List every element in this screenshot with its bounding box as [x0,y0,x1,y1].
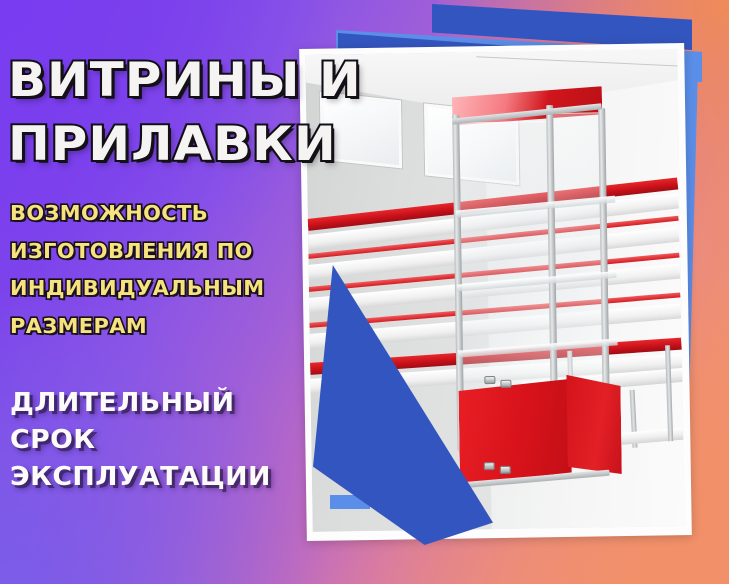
feature-white-line-3: ЭКСПЛУАТАЦИИ [10,464,271,490]
feature-block-yellow: ВОЗМОЖНОСТЬ ИЗГОТОВЛЕНИЯ ПО ИНДИВИДУАЛЬН… [10,203,300,353]
case-base-red-front [566,374,622,475]
feature-yellow-line-2: ИЗГОТОВЛЕНИЯ ПО [10,241,306,262]
case-frame [450,86,610,488]
case-lock-4 [500,466,511,474]
feature-yellow-line-1: ВОЗМОЖНОСТЬ [10,203,306,224]
case-lock-1 [484,376,495,384]
case-lock-3 [484,462,495,470]
feature-yellow-line-4: РАЗМЕРАМ [10,316,306,337]
case-lock-2 [500,380,511,388]
feature-yellow-line-3: ИНДИВИДУАЛЬНЫМ [10,278,306,299]
promo-poster: ВИТРИНЫ И ПРИЛАВКИ ВОЗМОЖНОСТЬ ИЗГОТОВЛЕ… [0,0,729,584]
headline-line-2: ПРИЛАВКИ [8,122,337,168]
case-base-red-left [458,379,572,485]
feature-white-line-2: СРОК [10,427,271,453]
feature-white-line-1: ДЛИТЕЛЬНЫЙ [10,390,271,416]
feature-block-white: ДЛИТЕЛЬНЫЙ СРОК ЭКСПЛУАТАЦИИ [10,390,263,501]
glass-display-case [434,86,608,493]
headline-line-1: ВИТРИНЫ И [8,58,362,104]
